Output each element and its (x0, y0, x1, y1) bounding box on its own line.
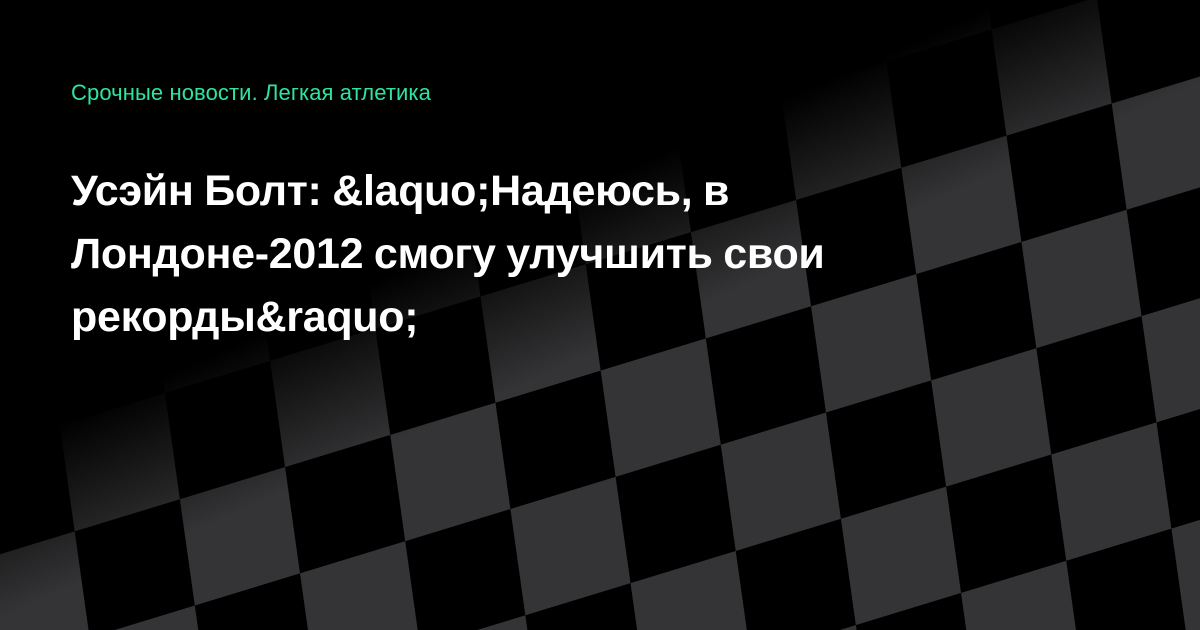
card-content: Срочные новости. Легкая атлетика Усэйн Б… (71, 0, 991, 630)
kicker-label: Срочные новости. Легкая атлетика (71, 80, 431, 106)
page-title: Усэйн Болт: &laquo;Надеюсь, в Лондоне-20… (71, 160, 991, 349)
social-share-card: Срочные новости. Легкая атлетика Усэйн Б… (0, 0, 1200, 630)
